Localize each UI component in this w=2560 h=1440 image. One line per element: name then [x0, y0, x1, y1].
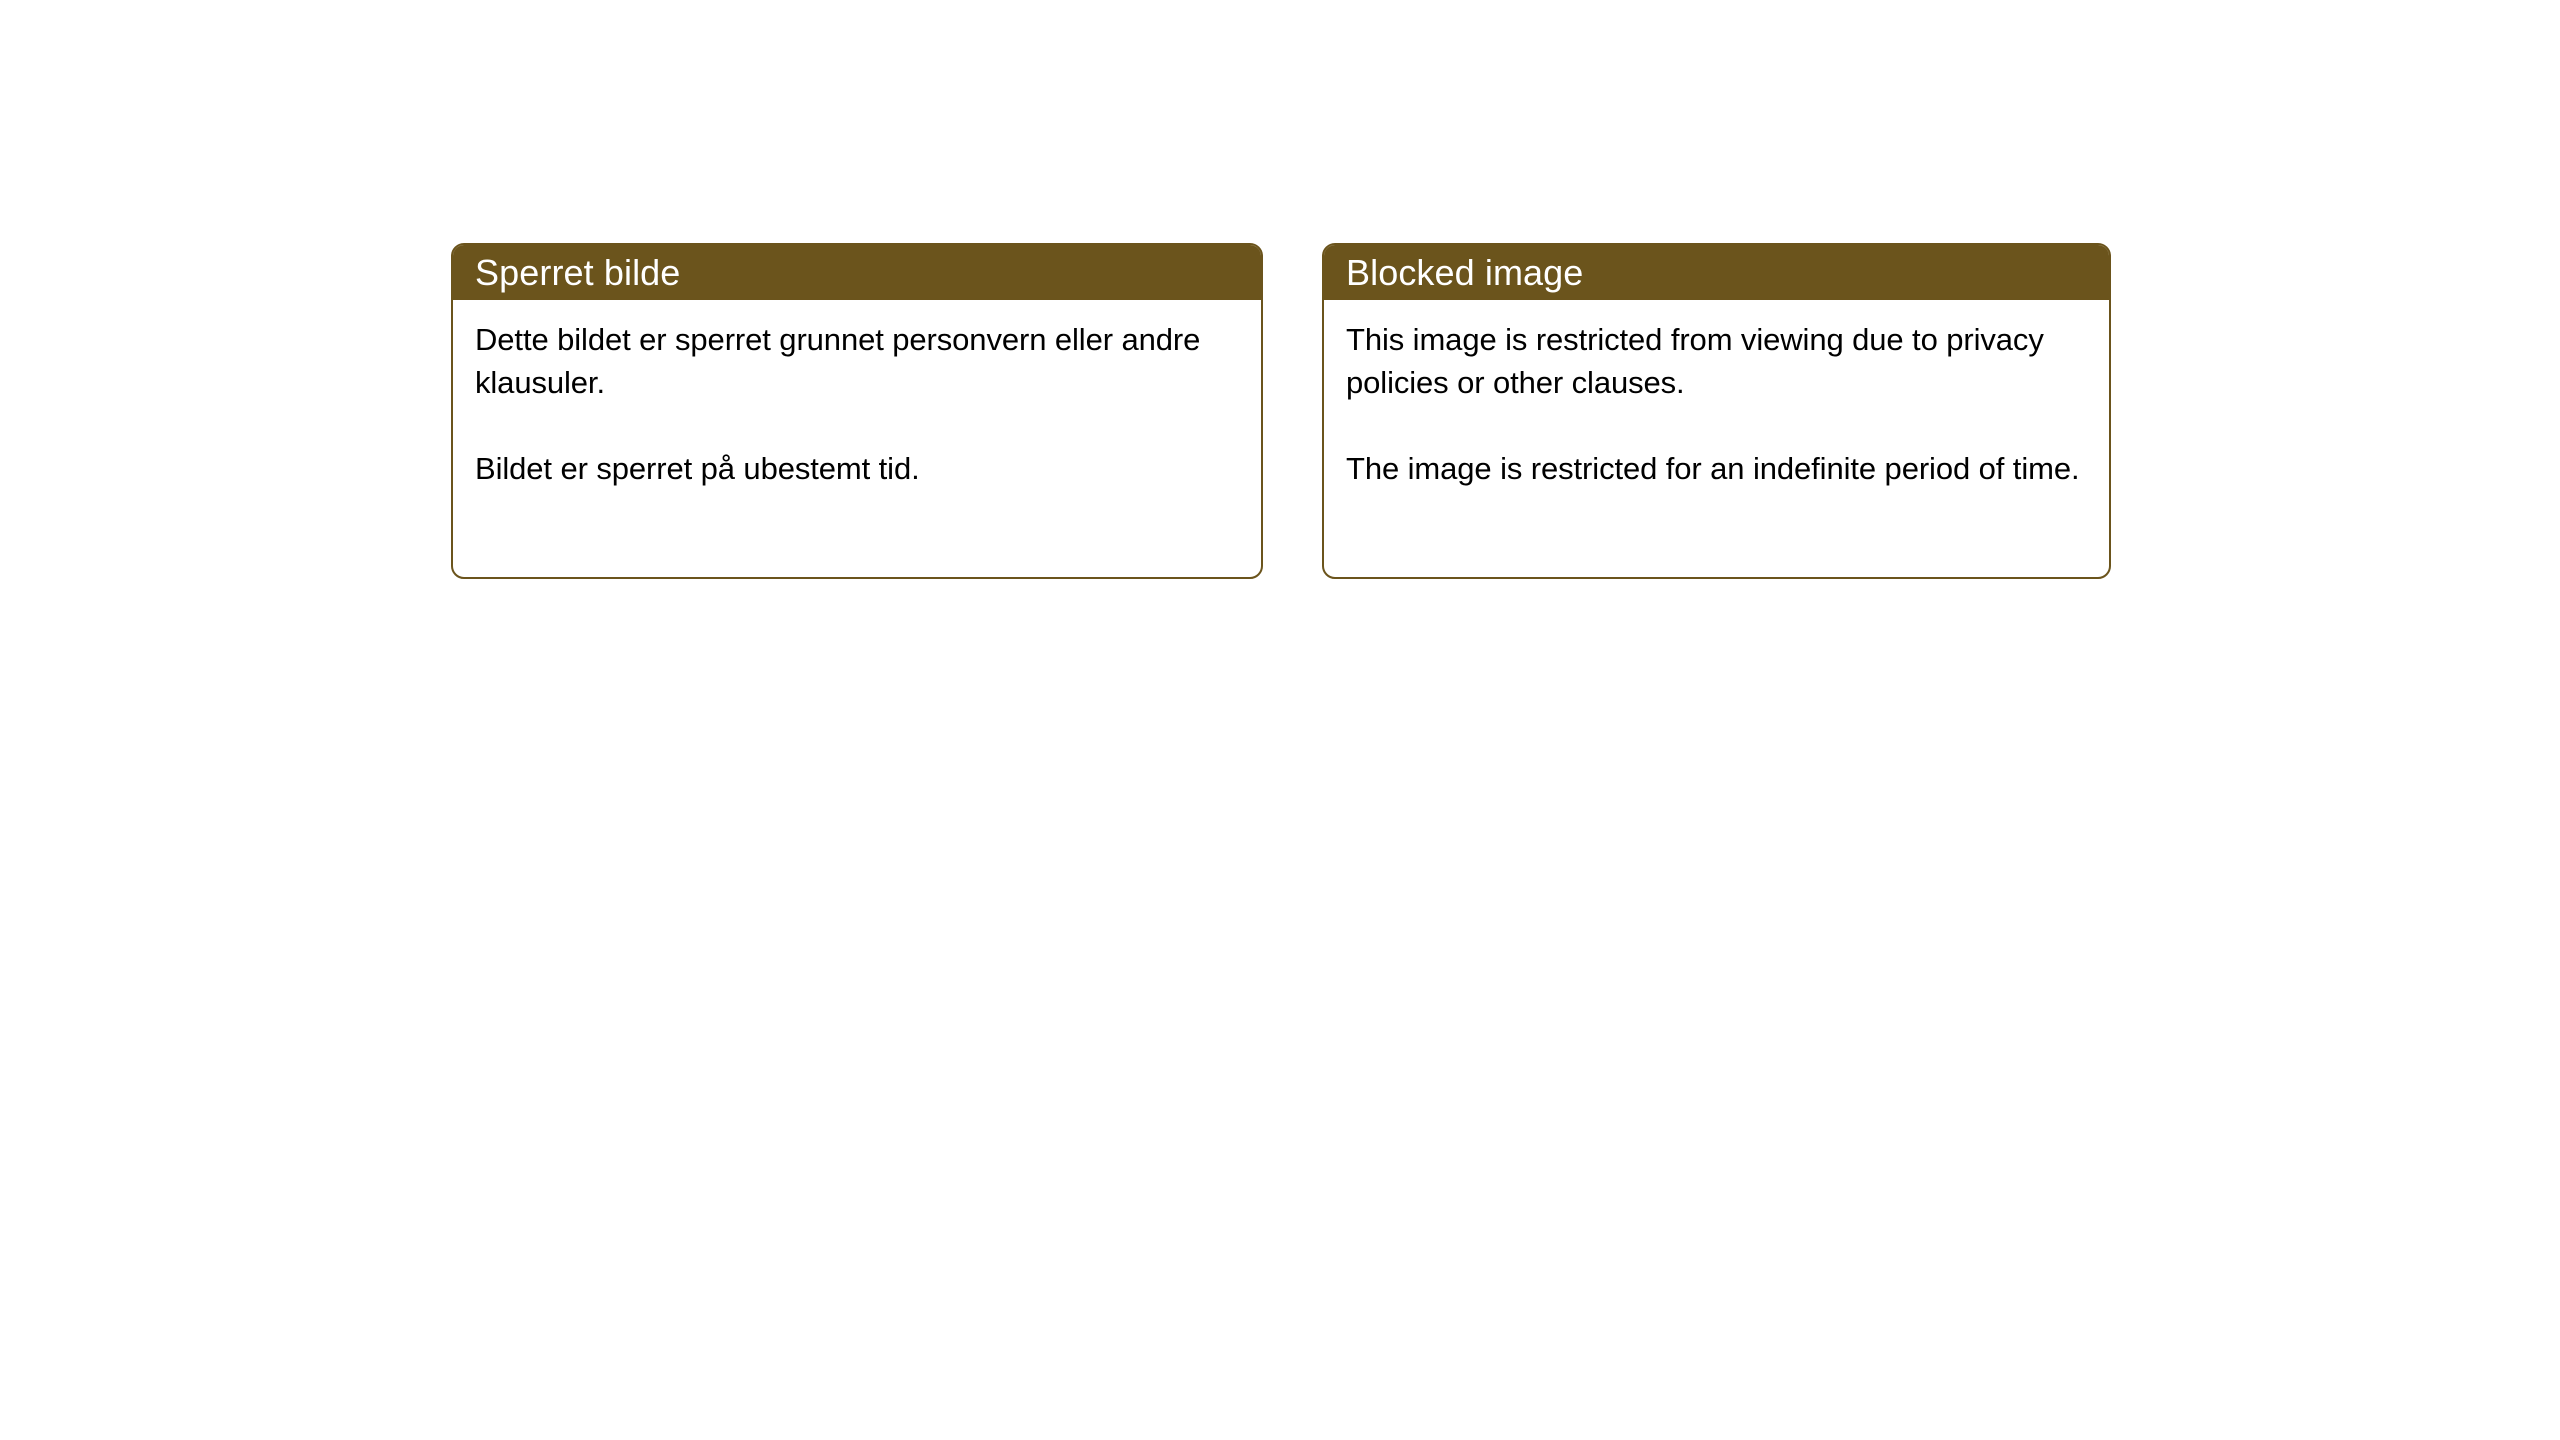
- card-body-norwegian: Dette bildet er sperret grunnet personve…: [453, 300, 1261, 490]
- card-title-english: Blocked image: [1346, 255, 1583, 291]
- blocked-image-notice-card-english: Blocked image This image is restricted f…: [1322, 243, 2111, 579]
- card-paragraph-privacy-english: This image is restricted from viewing du…: [1346, 318, 2089, 404]
- card-paragraph-privacy-norwegian: Dette bildet er sperret grunnet personve…: [475, 318, 1241, 404]
- card-paragraph-duration-english: The image is restricted for an indefinit…: [1346, 447, 2089, 490]
- blocked-image-notice-card-norwegian: Sperret bilde Dette bildet er sperret gr…: [451, 243, 1263, 579]
- card-header-english: Blocked image: [1324, 245, 2109, 300]
- card-header-norwegian: Sperret bilde: [453, 245, 1261, 300]
- card-body-english: This image is restricted from viewing du…: [1324, 300, 2109, 490]
- card-paragraph-duration-norwegian: Bildet er sperret på ubestemt tid.: [475, 447, 1241, 490]
- card-title-norwegian: Sperret bilde: [475, 255, 680, 291]
- page-root: Sperret bilde Dette bildet er sperret gr…: [0, 0, 2560, 1440]
